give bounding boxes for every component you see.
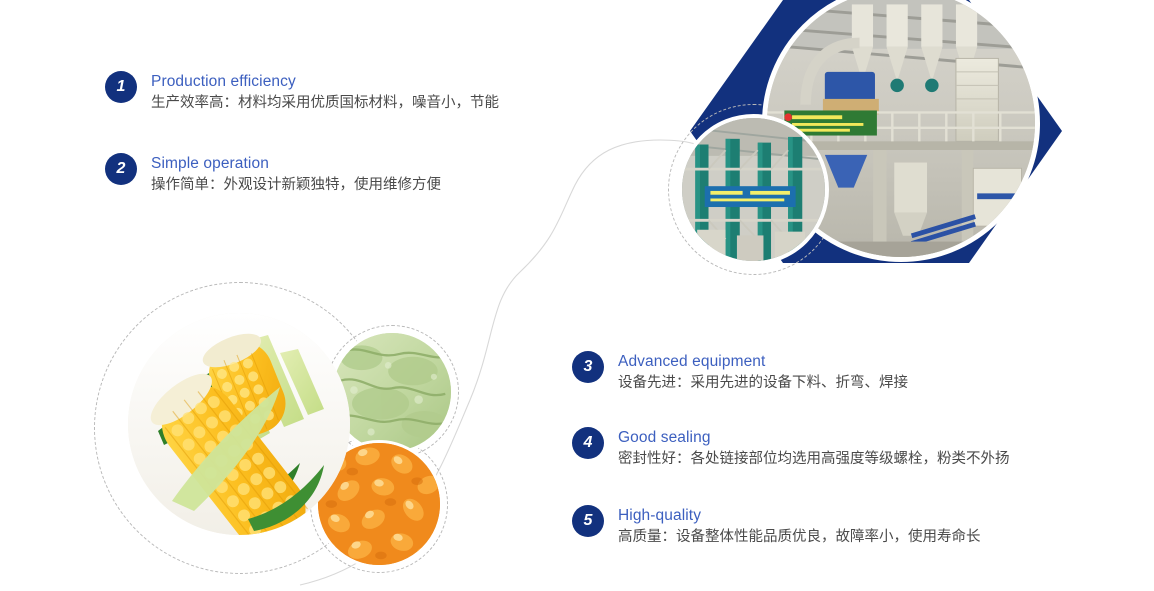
feature-text-3: Advanced equipment 设备先进：采用先进的设备下料、折弯、焊接 bbox=[618, 351, 908, 394]
feature-desc-4: 密封性好：各处链接部位均选用高强度等级螺栓，粉类不外扬 bbox=[618, 449, 1010, 470]
feature-title-3: Advanced equipment bbox=[618, 352, 908, 371]
feature-item-1: 1 Production efficiency 生产效率高：材料均采用优质国标材… bbox=[105, 71, 499, 114]
feature-item-2: 2 Simple operation 操作简单：外观设计新颖独特，使用维修方便 bbox=[105, 153, 441, 196]
feature-desc-2: 操作简单：外观设计新颖独特，使用维修方便 bbox=[151, 175, 441, 196]
feature-text-5: High-quality 高质量：设备整体性能品质优良，故障率小，使用寿命长 bbox=[618, 505, 981, 548]
feature-desc-1: 生产效率高：材料均采用优质国标材料，噪音小，节能 bbox=[151, 93, 499, 114]
corn-photo-group bbox=[92, 286, 452, 591]
feature-item-5: 5 High-quality 高质量：设备整体性能品质优良，故障率小，使用寿命长 bbox=[572, 505, 981, 548]
feature-infographic: 1 Production efficiency 生产效率高：材料均采用优质国标材… bbox=[0, 0, 1154, 591]
feature-badge-2: 2 bbox=[105, 153, 137, 185]
feature-text-1: Production efficiency 生产效率高：材料均采用优质国标材料，… bbox=[151, 71, 499, 114]
feature-badge-4: 4 bbox=[572, 427, 604, 459]
feature-title-5: High-quality bbox=[618, 506, 981, 525]
green-milling-line-photo bbox=[678, 114, 829, 265]
feature-badge-5: 5 bbox=[572, 505, 604, 537]
feature-title-4: Good sealing bbox=[618, 428, 1010, 447]
corn-cob-photo bbox=[128, 313, 350, 535]
feature-item-4: 4 Good sealing 密封性好：各处链接部位均选用高强度等级螺栓，粉类不… bbox=[572, 427, 1010, 470]
feature-title-2: Simple operation bbox=[151, 154, 441, 173]
feature-text-2: Simple operation 操作简单：外观设计新颖独特，使用维修方便 bbox=[151, 153, 441, 196]
feature-desc-3: 设备先进：采用先进的设备下料、折弯、焊接 bbox=[618, 373, 908, 394]
feature-title-1: Production efficiency bbox=[151, 72, 499, 91]
feature-badge-1: 1 bbox=[105, 71, 137, 103]
feature-text-4: Good sealing 密封性好：各处链接部位均选用高强度等级螺栓，粉类不外扬 bbox=[618, 427, 1010, 470]
feature-item-3: 3 Advanced equipment 设备先进：采用先进的设备下料、折弯、焊… bbox=[572, 351, 908, 394]
hexagon-photo-group bbox=[690, 0, 1062, 263]
feature-badge-3: 3 bbox=[572, 351, 604, 383]
feature-desc-5: 高质量：设备整体性能品质优良，故障率小，使用寿命长 bbox=[618, 527, 981, 548]
